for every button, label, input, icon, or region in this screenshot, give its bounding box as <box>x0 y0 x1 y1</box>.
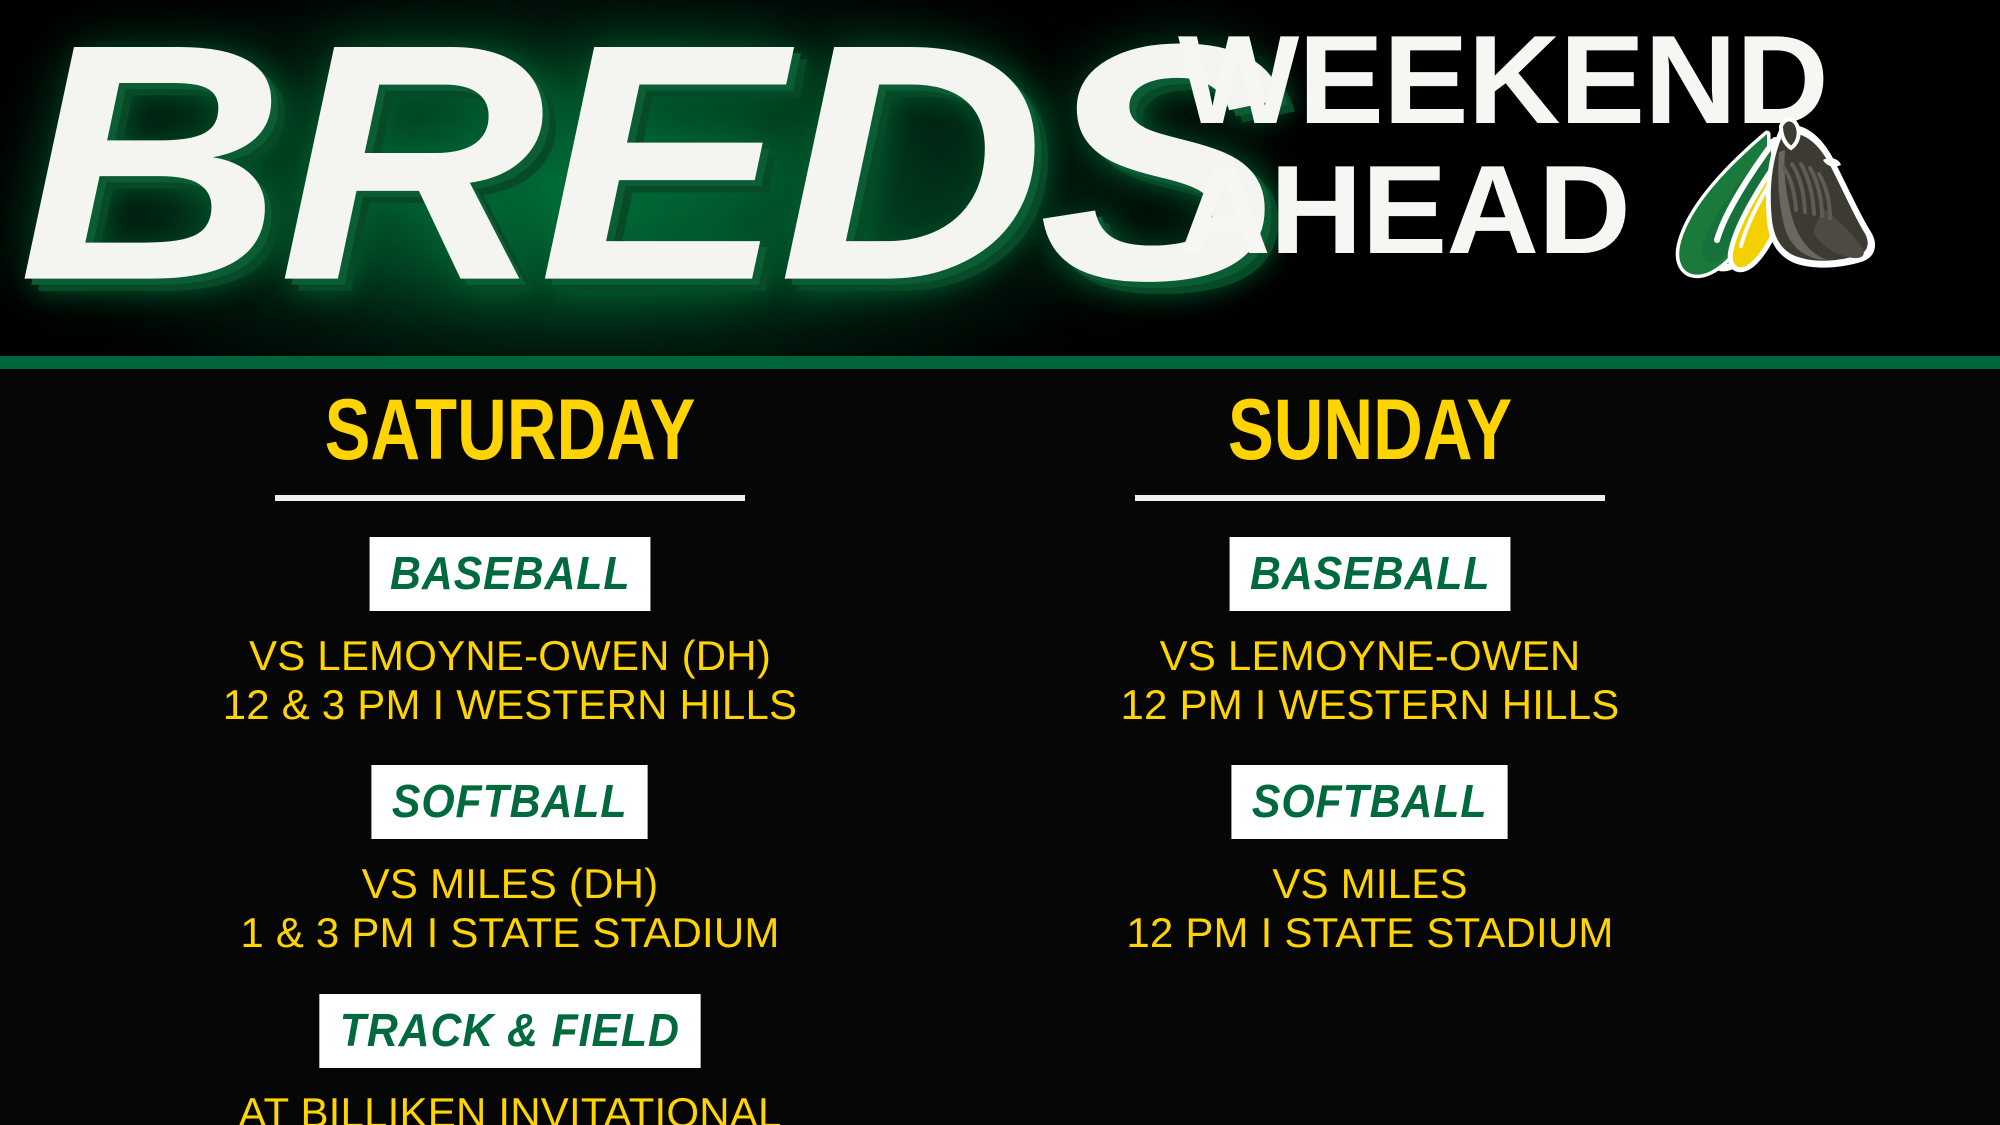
horse-head-icon <box>1655 112 1890 302</box>
sport-badge-track-and-field: TRACK & FIELD <box>320 994 701 1068</box>
event-item: BASEBALL VS LEMOYNE-OWEN 12 PM I WESTERN… <box>940 537 1800 729</box>
header-banner: BREDS WEEKEND AHEAD <box>0 0 2000 356</box>
sport-badge-baseball: BASEBALL <box>1229 537 1510 611</box>
event-detail: AT BILLIKEN INVITATIONAL ALL DAY I ST. L… <box>80 1088 940 1125</box>
event-detail: VS MILES (DH) 1 & 3 PM I STATE STADIUM <box>80 859 940 957</box>
event-item: BASEBALL VS LEMOYNE-OWEN (DH) 12 & 3 PM … <box>80 537 940 729</box>
day-underline-sunday <box>1135 495 1605 501</box>
event-time-venue: 12 & 3 PM I WESTERN HILLS <box>80 680 940 729</box>
event-opponent: VS MILES (DH) <box>80 859 940 908</box>
day-heading-saturday: SATURDAY <box>166 387 854 473</box>
day-underline-saturday <box>275 495 745 501</box>
event-detail: VS MILES 12 PM I STATE STADIUM <box>940 859 1800 957</box>
sport-badge-softball: SOFTBALL <box>1232 765 1508 839</box>
event-detail: VS LEMOYNE-OWEN (DH) 12 & 3 PM I WESTERN… <box>80 631 940 729</box>
day-column-sunday: SUNDAY BASEBALL VS LEMOYNE-OWEN 12 PM I … <box>940 369 1800 958</box>
sport-badge-baseball: BASEBALL <box>369 537 650 611</box>
event-opponent: VS MILES <box>940 859 1800 908</box>
event-item: TRACK & FIELD AT BILLIKEN INVITATIONAL A… <box>80 994 940 1125</box>
day-column-saturday: SATURDAY BASEBALL VS LEMOYNE-OWEN (DH) 1… <box>80 369 940 1125</box>
day-heading-sunday: SUNDAY <box>1026 387 1714 473</box>
event-detail: VS LEMOYNE-OWEN 12 PM I WESTERN HILLS <box>940 631 1800 729</box>
green-divider-bar <box>0 356 2000 369</box>
event-item: SOFTBALL VS MILES (DH) 1 & 3 PM I STATE … <box>80 765 940 957</box>
sport-badge-softball: SOFTBALL <box>372 765 648 839</box>
event-opponent: AT BILLIKEN INVITATIONAL <box>80 1088 940 1125</box>
event-opponent: VS LEMOYNE-OWEN <box>940 631 1800 680</box>
weekend-ahead-graphic: BREDS WEEKEND AHEAD <box>0 0 2000 1125</box>
event-opponent: VS LEMOYNE-OWEN (DH) <box>80 631 940 680</box>
schedule-body: SATURDAY BASEBALL VS LEMOYNE-OWEN (DH) 1… <box>0 369 2000 1125</box>
event-item: SOFTBALL VS MILES 12 PM I STATE STADIUM <box>940 765 1800 957</box>
event-time-venue: 12 PM I STATE STADIUM <box>940 908 1800 957</box>
event-time-venue: 1 & 3 PM I STATE STADIUM <box>80 908 940 957</box>
event-time-venue: 12 PM I WESTERN HILLS <box>940 680 1800 729</box>
breds-wordmark: BREDS <box>18 0 1278 331</box>
